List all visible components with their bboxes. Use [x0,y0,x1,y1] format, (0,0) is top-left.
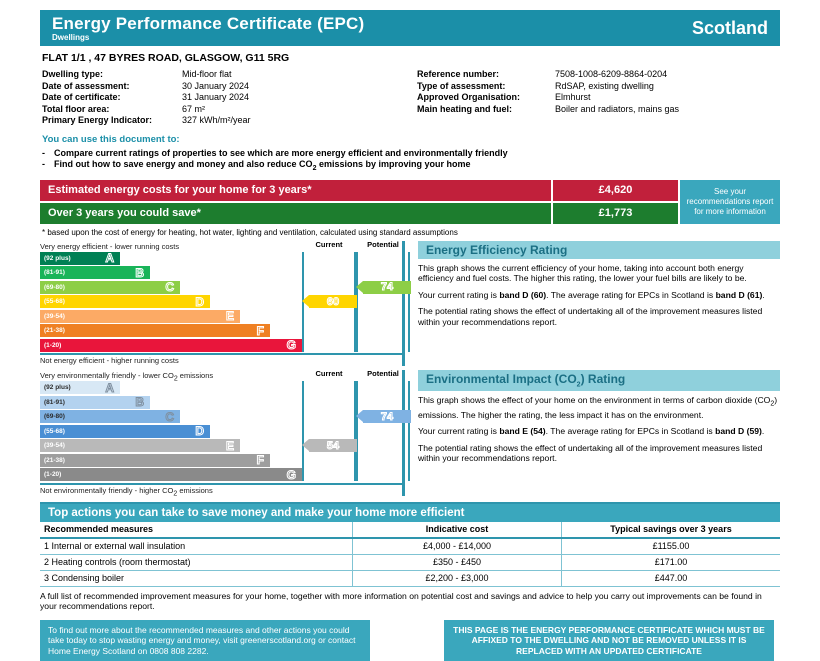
bullet-text: Compare current ratings of properties to… [54,148,508,160]
column-savings: Typical savings over 3 years [562,522,781,538]
column-header-current: Current [302,240,356,249]
band-range-label: (69-80) [40,284,65,291]
header-left: Energy Performance Certificate (EPC) Dwe… [52,15,364,42]
chart-column-headers: Current Potential [302,369,410,378]
footer-info-box: To find out more about the recommended m… [40,620,370,661]
fact-row: Date of assessment:30 January 2024 [42,81,417,93]
average-band-value: band D (59) [715,426,762,436]
paragraph-3: The potential rating shows the effect of… [418,306,780,327]
potential-rating-arrow: 74 [363,410,411,423]
see-recommendations-box: See your recommendations report for more… [680,180,780,224]
band-row-E: (39-54)E [40,310,240,323]
current-rating-arrow: 60 [309,295,357,308]
band-range-label: (39-54) [40,313,65,320]
fact-value: 31 January 2024 [182,92,417,104]
cell-cost: £350 - £450 [353,554,562,570]
document-subtitle: Dwellings [52,34,364,42]
band-row-G: (1-20)G [40,339,302,352]
band-range-label: (69-80) [40,413,65,420]
document-header: Energy Performance Certificate (EPC) Dwe… [40,10,780,46]
band-letter-G: G [287,338,296,352]
p2-pre: Your current rating is [418,290,499,300]
p2-mid: . The average rating for EPCs in Scotlan… [546,290,715,300]
recommendations-note: A full list of recommended improvement m… [40,591,780,612]
bullet-text: Find out how to save energy and money an… [54,159,471,174]
band-range-label: (55-68) [40,428,65,435]
column-potential [356,252,410,352]
cost-row-savings: Over 3 years you could save* £1,773 [40,203,678,224]
column-header-current: Current [302,369,356,378]
chart-bars: Current Potential (92 plus)A(81-91)B(69-… [40,381,402,481]
recommendations-header: Top actions you can take to save money a… [40,504,780,522]
epc-page: Energy Performance Certificate (EPC) Dwe… [0,0,820,547]
band-letter-F: F [257,453,264,467]
p2-end: . [762,426,764,436]
energy-efficiency-text: Energy Efficiency Rating This graph show… [418,241,780,367]
band-letter-F: F [257,324,264,338]
bullet-dash: - [42,148,54,160]
current-rating-arrow: 54 [309,439,357,452]
facts-left: Dwelling type:Mid-floor flat Date of ass… [42,69,417,127]
cell-savings: £1155.00 [562,538,781,555]
fact-key: Main heating and fuel: [417,104,555,116]
fact-row: Type of assessment:RdSAP, existing dwell… [417,81,679,93]
fact-row: Date of certificate:31 January 2024 [42,92,417,104]
cell-measure: 1 Internal or external wall insulation [40,538,353,555]
band-letter-B: B [135,395,144,409]
column-potential [356,381,410,481]
footer: To find out more about the recommended m… [40,620,780,661]
fact-value: 30 January 2024 [182,81,417,93]
fact-row: Main heating and fuel:Boiler and radiato… [417,104,679,116]
band-row-C: (69-80)C [40,281,180,294]
band-range-label: (81-91) [40,269,65,276]
fact-value: RdSAP, existing dwelling [555,81,679,93]
band-range-label: (1-20) [40,342,61,349]
band-letter-C: C [165,280,174,294]
cost-value: £4,620 [553,180,678,201]
fact-key: Total floor area: [42,104,182,116]
fact-key: Date of assessment: [42,81,182,93]
p2-end: . [762,290,764,300]
bullet-item: -Find out how to save energy and money a… [42,159,780,174]
recommendations-body: 1 Internal or external wall insulation£4… [40,538,780,587]
facts-right: Reference number:7508-1008-6209-8864-020… [417,69,679,127]
band-row-B: (81-91)B [40,266,150,279]
chart-bars: Current Potential (92 plus)A(81-91)B(69-… [40,252,402,352]
paragraph-1: This graph shows the current efficiency … [418,263,780,284]
table-row: 1 Internal or external wall insulation£4… [40,538,780,555]
cell-measure: 3 Condensing boiler [40,570,353,586]
fact-key: Dwelling type: [42,69,182,81]
band-range-label: (92 plus) [40,384,71,391]
bullet-item: -Compare current ratings of properties t… [42,148,780,160]
fact-value: Elmhurst [555,92,679,104]
energy-efficiency-section: Very energy efficient - lower running co… [40,241,780,367]
section-title: Energy Efficiency Rating [418,241,780,259]
band-letter-E: E [226,439,234,453]
use-document-bullets: -Compare current ratings of properties t… [42,148,780,175]
title-pre: Environmental Impact (CO [426,372,577,386]
p2-pre: Your current rating is [418,426,499,436]
column-header-potential: Potential [356,240,410,249]
current-band-value: band D (60) [499,290,546,300]
fact-value: Boiler and radiators, mains gas [555,104,679,116]
property-address: FLAT 1/1 , 47 BYRES ROAD, GLASGOW, G11 5… [42,52,780,64]
potential-rating-arrow: 74 [363,281,411,294]
table-header-row: Recommended measures Indicative cost Typ… [40,522,780,538]
document-title: Energy Performance Certificate (EPC) [52,15,364,32]
paragraph-1: This graph shows the effect of your home… [418,395,780,421]
section-body: This graph shows the current efficiency … [418,263,780,328]
paragraph-2: Your current rating is band E (54). The … [418,426,780,437]
fact-key: Reference number: [417,69,555,81]
band-range-label: (92 plus) [40,255,71,262]
band-range-label: (39-54) [40,442,65,449]
fact-value: 7508-1008-6209-8864-0204 [555,69,679,81]
band-row-A: (92 plus)A [40,252,120,265]
recommendations-table: Recommended measures Indicative cost Typ… [40,522,780,587]
chart-bottom-caption: Not environmentally friendly - higher CO… [40,485,402,496]
band-letter-A: A [105,251,114,265]
chart-grid-columns [302,381,410,481]
band-range-label: (55-68) [40,298,65,305]
fact-row: Primary Energy Indicator:327 kWh/m²/year [42,115,417,127]
average-band-value: band D (61) [716,290,763,300]
paragraph-2: Your current rating is band D (60). The … [418,290,780,301]
table-row: 3 Condensing boiler£2,200 - £3,000£447.0… [40,570,780,586]
cost-summary: Estimated energy costs for your home for… [40,180,780,226]
current-band-value: band E (54) [499,426,545,436]
assessment-facts: Dwelling type:Mid-floor flat Date of ass… [42,69,780,127]
cost-label: Over 3 years you could save* [40,203,551,224]
environmental-impact-section: Very environmentally friendly - lower CO… [40,370,780,496]
column-cost: Indicative cost [353,522,562,538]
chart-bottom-caption: Not energy efficient - higher running co… [40,355,402,366]
fact-value: 327 kWh/m²/year [182,115,417,127]
section-title: Environmental Impact (CO2) Rating [418,370,780,390]
band-row-F: (21-38)F [40,454,270,467]
band-letter-G: G [287,468,296,482]
band-row-C: (69-80)C [40,410,180,423]
band-row-A: (92 plus)A [40,381,120,394]
footer-notice-box: THIS PAGE IS THE ENERGY PERFORMANCE CERT… [444,620,774,661]
paragraph-3: The potential rating shows the effect of… [418,443,780,464]
column-header-potential: Potential [356,369,410,378]
fact-row: Reference number:7508-1008-6209-8864-020… [417,69,679,81]
band-letter-D: D [195,295,204,309]
band-letter-E: E [226,309,234,323]
band-row-D: (55-68)D [40,425,210,438]
fact-key: Date of certificate: [42,92,182,104]
band-row-F: (21-38)F [40,324,270,337]
recommendations-section: Top actions you can take to save money a… [40,502,780,612]
band-letter-C: C [165,410,174,424]
band-letter-D: D [195,424,204,438]
cell-measure: 2 Heating controls (room thermostat) [40,554,353,570]
environmental-impact-text: Environmental Impact (CO2) Rating This g… [418,370,780,496]
cost-footnote: * based upon the cost of energy for heat… [42,228,780,237]
title-post: ) Rating [581,372,626,386]
cost-row-estimated: Estimated energy costs for your home for… [40,180,678,201]
environmental-impact-chart: Very environmentally friendly - lower CO… [40,370,402,496]
use-document-title: You can use this document to: [42,134,780,145]
band-row-D: (55-68)D [40,295,210,308]
band-range-label: (1-20) [40,471,61,478]
cost-label: Estimated energy costs for your home for… [40,180,551,201]
band-range-label: (21-38) [40,457,65,464]
energy-efficiency-chart: Very energy efficient - lower running co… [40,241,402,367]
fact-key: Type of assessment: [417,81,555,93]
band-letter-A: A [105,381,114,395]
column-current [302,381,356,481]
band-row-G: (1-20)G [40,468,302,481]
region-label: Scotland [692,18,768,39]
fact-value: 67 m² [182,104,417,116]
fact-row: Approved Organisation:Elmhurst [417,92,679,104]
cell-savings: £447.00 [562,570,781,586]
cell-cost: £4,000 - £14,000 [353,538,562,555]
band-row-B: (81-91)B [40,396,150,409]
band-range-label: (81-91) [40,399,65,406]
fact-row: Dwelling type:Mid-floor flat [42,69,417,81]
chart-column-headers: Current Potential [302,240,410,249]
fact-key: Primary Energy Indicator: [42,115,182,127]
fact-row: Total floor area:67 m² [42,104,417,116]
band-row-E: (39-54)E [40,439,240,452]
cell-savings: £171.00 [562,554,781,570]
band-letter-B: B [135,266,144,280]
cost-value: £1,773 [553,203,678,224]
band-range-label: (21-38) [40,327,65,334]
bullet-dash: - [42,159,54,174]
cost-rows: Estimated energy costs for your home for… [40,180,678,226]
cell-cost: £2,200 - £3,000 [353,570,562,586]
fact-value: Mid-floor flat [182,69,417,81]
section-body: This graph shows the effect of your home… [418,395,780,464]
column-measures: Recommended measures [40,522,353,538]
table-row: 2 Heating controls (room thermostat)£350… [40,554,780,570]
fact-key: Approved Organisation: [417,92,555,104]
p2-mid: . The average rating for EPCs in Scotlan… [546,426,715,436]
